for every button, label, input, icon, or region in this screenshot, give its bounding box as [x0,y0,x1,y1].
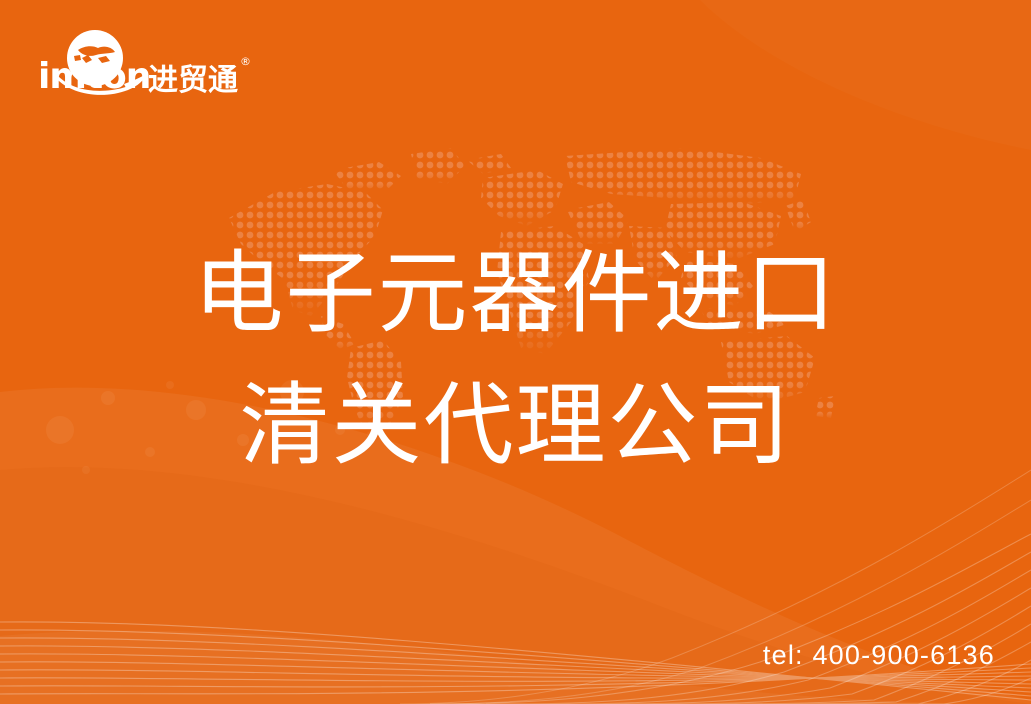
svg-text:imton: imton [38,56,150,97]
promo-banner: imton 进贸通 ® 电子元器件进口 清关代理公司 tel: 400-900-… [0,0,1031,704]
logo-chinese-name: 进贸通 ® [148,66,238,104]
headline-line-2: 清关代理公司 [0,360,1031,492]
globe-icon: imton [36,28,154,104]
registered-trademark-icon: ® [240,56,251,67]
page-title: 电子元器件进口 清关代理公司 [0,228,1031,492]
logo-chinese-text: 进贸通 [148,63,238,98]
headline-line-1: 电子元器件进口 [0,228,1031,360]
brand-logo[interactable]: imton 进贸通 ® [36,28,236,104]
contact-phone[interactable]: tel: 400-900-6136 [763,640,995,671]
